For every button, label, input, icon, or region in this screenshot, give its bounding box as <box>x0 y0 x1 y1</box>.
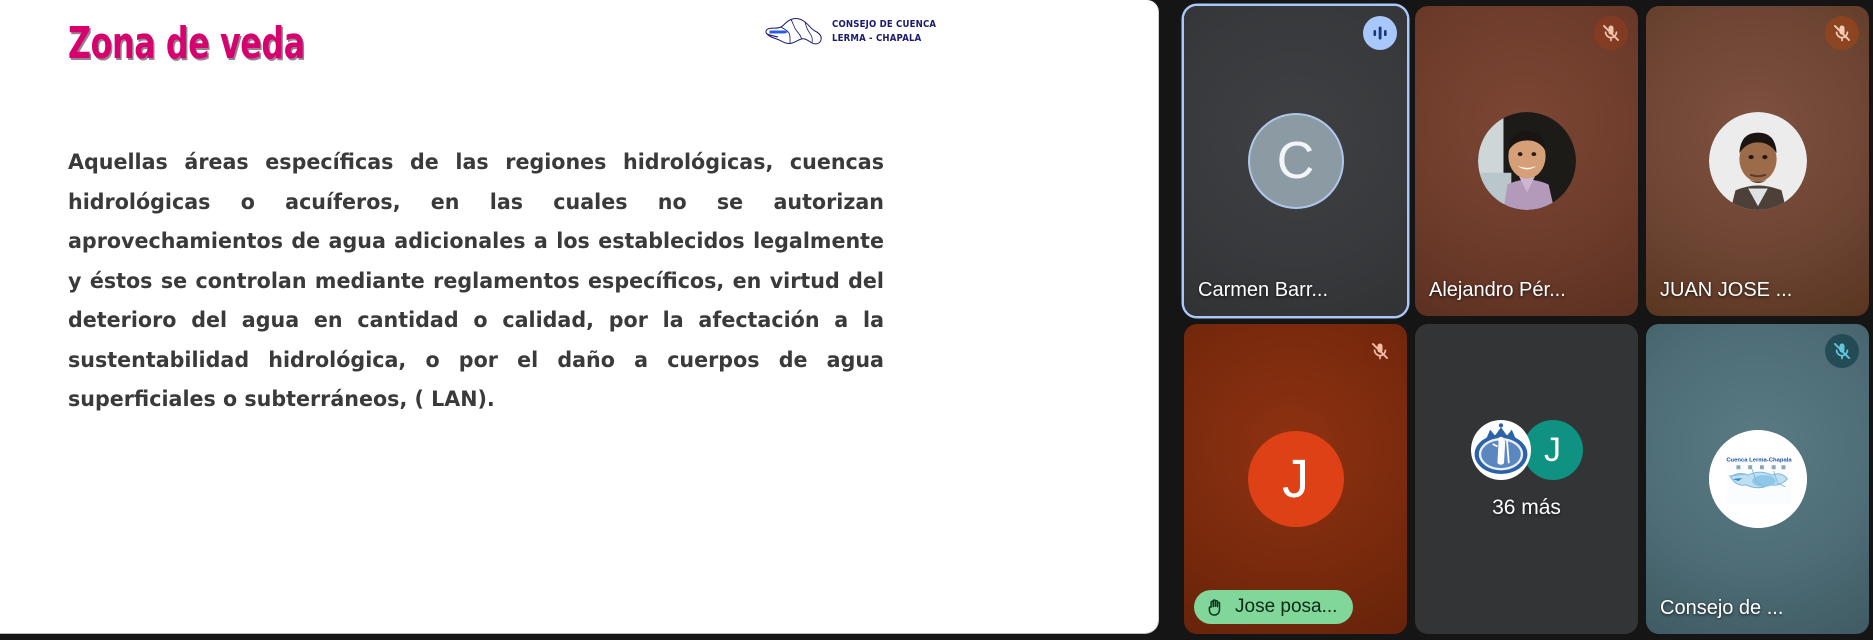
mic-muted-icon <box>1363 334 1397 368</box>
speaking-indicator-icon <box>1363 16 1397 50</box>
mic-muted-icon <box>1825 334 1859 368</box>
hand-raised-badge[interactable]: Jose posa... <box>1194 590 1353 624</box>
participant-name: JUAN JOSE ... <box>1660 279 1792 302</box>
organization-logo: CONSEJO DE CUENCA LERMA - CHAPALA <box>763 12 948 52</box>
participant-tile-juan-jose[interactable]: JUAN JOSE ... <box>1646 6 1869 316</box>
hand-raised-label: Jose posa... <box>1235 596 1337 618</box>
participant-tile-carmen[interactable]: C Carmen Barr... <box>1184 6 1407 316</box>
participant-name: Consejo de ... <box>1660 597 1783 620</box>
participant-grid: C Carmen Barr... <box>1184 6 1869 634</box>
lerma-chapala-basin-map-icon <box>763 12 825 52</box>
overflow-avatars: J <box>1471 420 1583 480</box>
meeting-screen: Zona de veda CONSEJO DE CUENCA LERMA - C… <box>0 0 1873 640</box>
avatar: J <box>1523 420 1583 480</box>
logo-line-2: LERMA - CHAPALA <box>832 32 936 46</box>
slide-body-text: Aquellas áreas específicas de las region… <box>68 143 884 420</box>
slide-content: Zona de veda CONSEJO DE CUENCA LERMA - C… <box>0 0 1158 633</box>
participant-name: Carmen Barr... <box>1198 279 1328 302</box>
slide-title: Zona de veda <box>68 22 305 66</box>
avatar <box>1478 112 1576 210</box>
participant-video-panel: C Carmen Barr... <box>1162 0 1873 640</box>
shared-slide-panel[interactable]: Zona de veda CONSEJO DE CUENCA LERMA - C… <box>0 0 1159 634</box>
logo-text-block: CONSEJO DE CUENCA LERMA - CHAPALA <box>832 18 936 46</box>
mic-muted-icon <box>1825 16 1859 50</box>
participant-tile-overflow[interactable]: J 36 más <box>1415 324 1638 634</box>
participant-tile-jose[interactable]: J Jose posa... <box>1184 324 1407 634</box>
svg-text:Cuenca Lerma-Chapala: Cuenca Lerma-Chapala <box>1726 457 1792 463</box>
raised-hand-icon <box>1205 597 1226 618</box>
institution-crest-icon <box>1471 420 1531 480</box>
avatar: J <box>1248 431 1344 527</box>
participant-tile-alejandro[interactable]: Alejandro Pér... <box>1415 6 1638 316</box>
avatar <box>1709 112 1807 210</box>
participant-tile-consejo[interactable]: Cuenca Lerma-Chapala Co <box>1646 324 1869 634</box>
logo-line-1: CONSEJO DE CUENCA <box>832 18 936 32</box>
mic-muted-icon <box>1594 16 1628 50</box>
overflow-count-label: 36 más <box>1492 496 1561 520</box>
avatar: C <box>1248 113 1344 209</box>
avatar: Cuenca Lerma-Chapala <box>1709 430 1807 528</box>
participant-name: Alejandro Pér... <box>1429 279 1566 302</box>
